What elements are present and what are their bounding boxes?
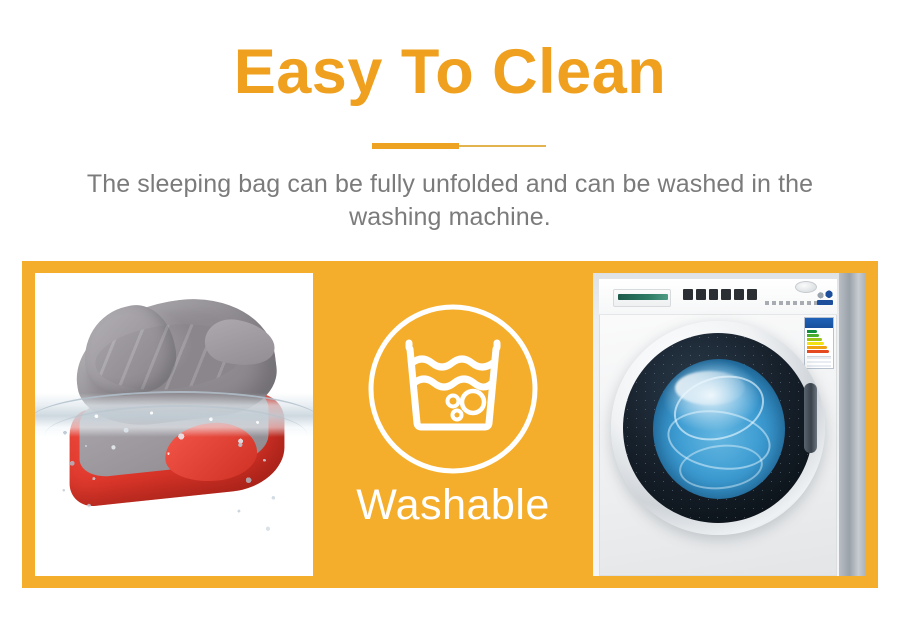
brand-badge-icon [815,287,835,305]
energy-bar-e [807,346,827,349]
control-button [721,289,731,300]
subtitle-text: The sleeping bag can be fully unfolded a… [60,168,840,235]
energy-bar-f [807,350,829,353]
control-button [747,289,757,300]
washer-door [611,321,825,535]
washer-side-panel [839,273,865,576]
control-button [734,289,744,300]
divider-thick-segment [372,143,459,149]
water-bubbles-right [227,434,296,544]
sleeping-bag-water-photo [35,273,313,576]
washing-machine-photo [593,273,865,576]
promo-banner: Easy To Clean The sleeping bag can be fu… [0,0,900,634]
energy-bar-a [807,330,817,333]
energy-label-details [807,356,831,369]
washable-label: Washable [313,481,593,530]
washer-control-panel [599,279,837,315]
energy-label-bars [805,328,833,355]
door-inner-ring [623,333,813,523]
water-splash-scene [35,273,313,576]
control-button-row [683,289,757,300]
washable-basin-icon [365,301,541,477]
energy-bar-c [807,338,822,341]
washing-machine-scene [593,273,865,576]
energy-label-header [805,318,833,328]
energy-bar-b [807,334,819,337]
panel-legend-text [765,301,821,305]
energy-bar-d [807,342,824,345]
door-handle [804,383,817,453]
energy-rating-label [804,317,834,369]
divider-thin-segment [459,145,546,147]
water-bubbles-left [53,423,113,519]
washable-emblem: Washable [313,273,593,576]
title-divider [372,143,546,152]
control-button [683,289,693,300]
control-button [696,289,706,300]
program-knob [795,281,817,293]
detergent-drawer [613,289,671,307]
feature-band: Washable [22,261,878,588]
control-button [709,289,719,300]
door-glass [653,359,785,499]
page-title: Easy To Clean [0,36,900,108]
